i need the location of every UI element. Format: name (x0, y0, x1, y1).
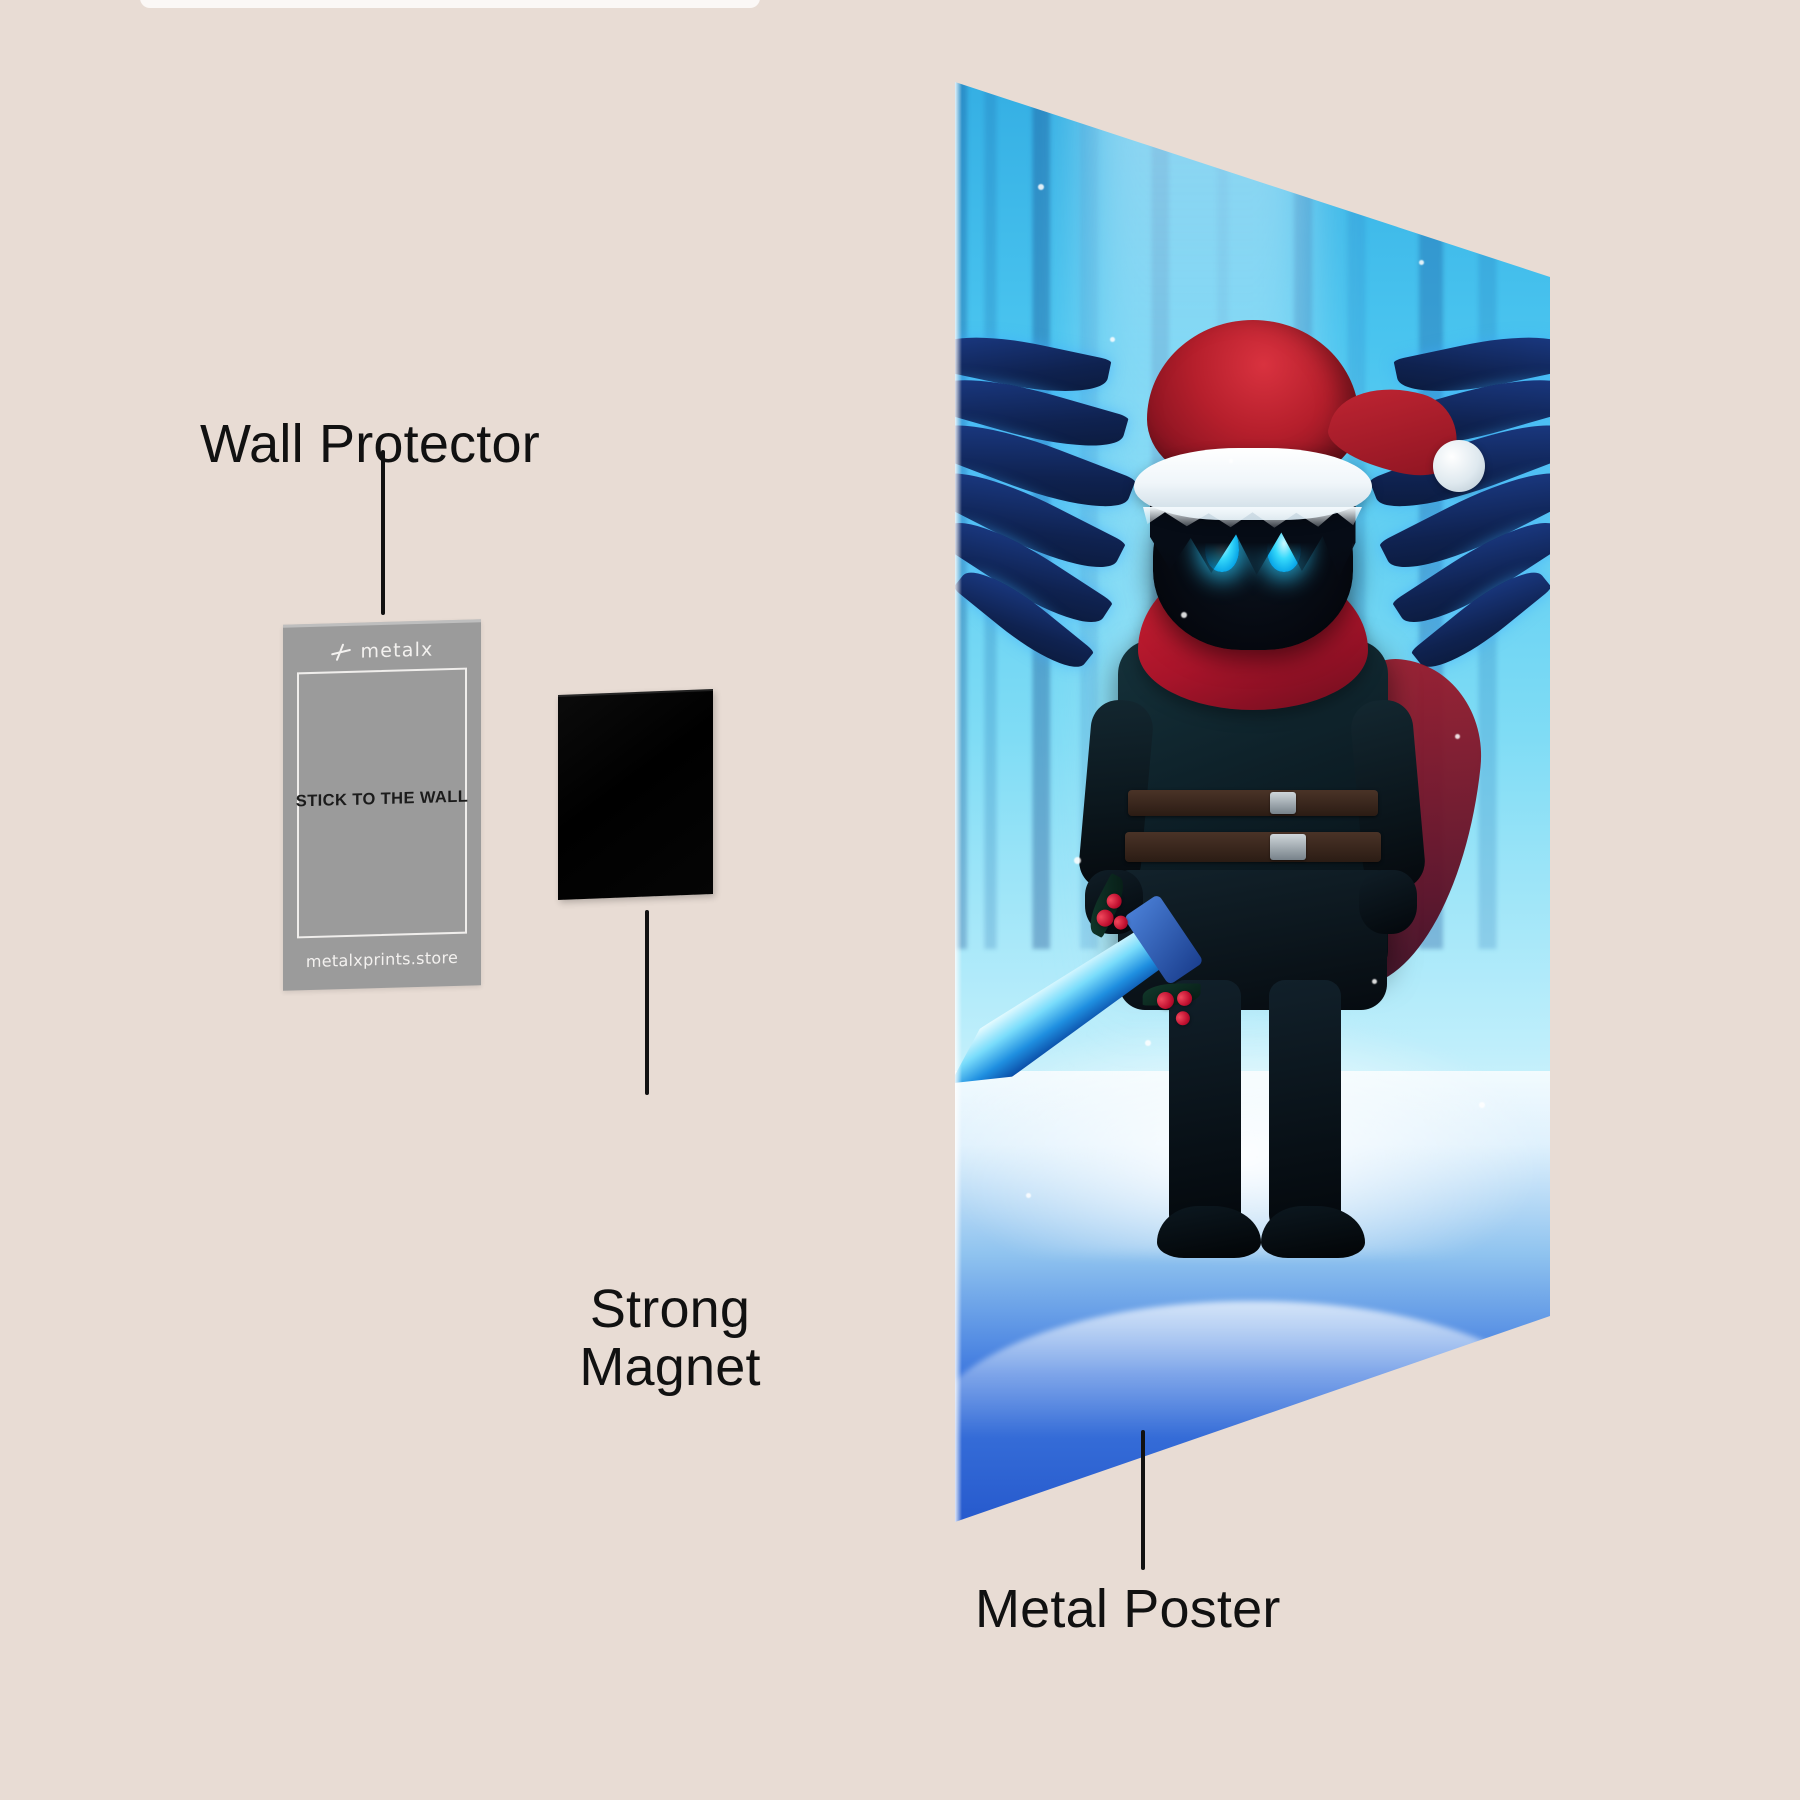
metalx-logo-text: metalx (360, 639, 433, 663)
art-buckle-lower (1270, 834, 1306, 860)
art-santa-hat-pompom (1433, 440, 1485, 492)
art-belt-upper (1128, 790, 1378, 816)
art-holly-berry (1173, 1009, 1192, 1028)
art-right-wing (1341, 323, 1550, 697)
metalx-cross-icon (330, 641, 352, 664)
art-left-wing (955, 323, 1164, 697)
art-snow-particle (1038, 184, 1044, 190)
leader-line-wall-protector (381, 450, 385, 615)
callout-label-metal-poster: Metal Poster (975, 1580, 1281, 1638)
art-snow-particle (1074, 857, 1081, 864)
art-snow-particle (1110, 337, 1115, 342)
metalx-logo: metalx (283, 637, 481, 665)
metal-poster (955, 0, 1550, 1530)
leader-line-metal-poster (1141, 1430, 1145, 1570)
infographic-stage: Wall Protector metalx STICK TO THE WALL … (0, 0, 1800, 1800)
card-store-url: metalxprints.store (283, 947, 481, 972)
art-santa-hat-fur-brim (1134, 448, 1372, 520)
art-right-hand (1359, 870, 1417, 934)
art-belt-lower (1125, 832, 1381, 862)
wall-protector-card: metalx STICK TO THE WALL metalxprints.st… (283, 619, 481, 991)
art-snow-particle (1479, 1102, 1485, 1108)
art-buckle-upper (1270, 792, 1296, 814)
art-snow-particle (1229, 459, 1233, 463)
callout-label-strong-magnet: Strong Magnet (545, 1280, 795, 1397)
art-snow-particle (1312, 138, 1318, 144)
leader-line-magnet (645, 910, 649, 1095)
top-white-bar (140, 0, 760, 8)
art-snow-particle (1372, 979, 1377, 984)
strong-magnet-square (558, 689, 713, 900)
callout-label-wall-protector: Wall Protector (200, 415, 540, 473)
poster-artwork (955, 0, 1550, 1530)
